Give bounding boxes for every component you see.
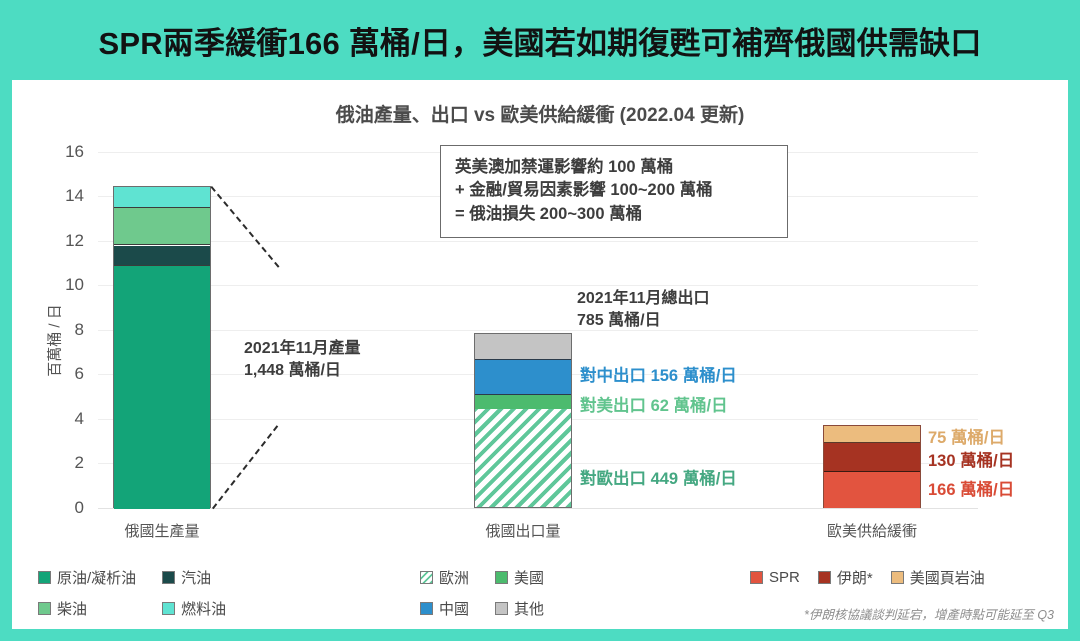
legend-swatch-diesel bbox=[38, 602, 51, 615]
legend-item-crude-condensate[interactable]: 原油/凝析油 bbox=[38, 567, 136, 588]
bar-segment-fuel-oil bbox=[114, 187, 210, 208]
legend-swatch-europe bbox=[420, 571, 433, 584]
legend-item-diesel[interactable]: 柴油 bbox=[38, 598, 136, 619]
ytick-14: 14 bbox=[44, 186, 84, 206]
legend-label-europe: 歐洲 bbox=[439, 567, 469, 588]
legend-label-spr: SPR bbox=[769, 569, 800, 586]
bar-segment-spr bbox=[824, 472, 920, 508]
annotation-shale: 75 萬桶/日 bbox=[928, 424, 1005, 448]
impact-line-3: = 俄油損失 200~300 萬桶 bbox=[455, 203, 775, 226]
legend-label-fuel-oil: 燃料油 bbox=[181, 598, 226, 619]
bar-supply-buffer bbox=[823, 425, 921, 508]
slide-root: SPR兩季緩衝166 萬桶/日，美國若如期復甦可補齊俄國供需缺口 俄油產量、出口… bbox=[0, 0, 1080, 641]
bar-segment-gasoline bbox=[114, 246, 210, 266]
legend-swatch-crude-condensate bbox=[38, 571, 51, 584]
bar-segment-europe bbox=[475, 409, 571, 507]
legend-label-diesel: 柴油 bbox=[57, 598, 87, 619]
annotation-spr: 166 萬桶/日 bbox=[928, 476, 1014, 500]
xcat-supply-buffer: 歐美供給緩衝 bbox=[827, 520, 917, 541]
axis-baseline bbox=[98, 508, 978, 509]
bar-segment-crude-condensate bbox=[114, 266, 210, 510]
impact-textbox: 英美澳加禁運影響約 100 萬桶 + 金融/貿易因素影響 100~200 萬桶 … bbox=[440, 145, 788, 238]
legend-exports: 歐洲 美國 中國 其他 bbox=[420, 567, 544, 619]
callout-production-line1: 2021年11月產量 bbox=[244, 338, 361, 360]
callout-leader-bottom bbox=[212, 425, 278, 509]
annotation-iran: 130 萬桶/日 bbox=[928, 447, 1014, 471]
xcat-exports: 俄國出口量 bbox=[485, 520, 560, 541]
legend-label-china: 中國 bbox=[439, 598, 469, 619]
legend-swatch-other bbox=[495, 602, 508, 615]
legend-label-gasoline: 汽油 bbox=[181, 567, 211, 588]
legend-swatch-iran bbox=[818, 571, 831, 584]
annotation-usa-export: 對美出口 62 萬桶/日 bbox=[580, 392, 728, 416]
callout-production: 2021年11月產量 1,448 萬桶/日 bbox=[244, 338, 361, 383]
y-axis-label: 百萬桶 / 日 bbox=[44, 271, 65, 411]
legend-item-fuel-oil[interactable]: 燃料油 bbox=[162, 598, 226, 619]
callout-production-line2: 1,448 萬桶/日 bbox=[244, 360, 361, 382]
bar-production bbox=[113, 186, 211, 508]
callout-leader-top bbox=[210, 186, 279, 268]
ytick-16: 16 bbox=[44, 142, 84, 162]
annotation-europe-export: 對歐出口 449 萬桶/日 bbox=[580, 465, 737, 489]
legend-item-china[interactable]: 中國 bbox=[420, 598, 469, 619]
ytick-4: 4 bbox=[44, 409, 84, 429]
legend-label-iran: 伊朗* bbox=[837, 567, 873, 588]
legend-item-europe[interactable]: 歐洲 bbox=[420, 567, 469, 588]
ytick-0: 0 bbox=[44, 498, 84, 518]
legend-swatch-gasoline bbox=[162, 571, 175, 584]
legend-swatch-china bbox=[420, 602, 433, 615]
legend-swatch-shale bbox=[891, 571, 904, 584]
legend-label-other: 其他 bbox=[514, 598, 544, 619]
xcat-production: 俄國生產量 bbox=[124, 520, 199, 541]
legend-swatch-spr bbox=[750, 571, 763, 584]
annotation-china-export: 對中出口 156 萬桶/日 bbox=[580, 362, 737, 386]
legend-swatch-usa bbox=[495, 571, 508, 584]
legend-item-iran[interactable]: 伊朗* bbox=[818, 567, 873, 588]
legend-item-gasoline[interactable]: 汽油 bbox=[162, 567, 226, 588]
bar-segment-china bbox=[475, 360, 571, 395]
legend-item-shale[interactable]: 美國頁岩油 bbox=[891, 567, 985, 588]
legend-label-usa: 美國 bbox=[514, 567, 544, 588]
legend-supply-buffer: SPR 伊朗* 美國頁岩油 bbox=[750, 567, 985, 588]
impact-line-1: 英美澳加禁運影響約 100 萬桶 bbox=[455, 156, 775, 179]
chart-panel: 俄油產量、出口 vs 歐美供給緩衝 (2022.04 更新) 16 14 12 … bbox=[12, 80, 1068, 629]
legend-swatch-fuel-oil bbox=[162, 602, 175, 615]
legend-production: 原油/凝析油 汽油 柴油 燃料油 bbox=[38, 567, 226, 619]
legend-label-shale: 美國頁岩油 bbox=[910, 567, 985, 588]
page-title: SPR兩季緩衝166 萬桶/日，美國若如期復甦可補齊俄國供需缺口 bbox=[0, 18, 1080, 63]
callout-exports-line1: 2021年11月總出口 bbox=[577, 288, 710, 310]
footnote: *伊朗核協議談判延宕，增產時點可能延至 Q3 bbox=[804, 604, 1054, 623]
impact-line-2: + 金融/貿易因素影響 100~200 萬桶 bbox=[455, 179, 775, 202]
legend-item-usa[interactable]: 美國 bbox=[495, 567, 544, 588]
gridline-12 bbox=[98, 241, 978, 242]
bar-segment-iran bbox=[824, 443, 920, 472]
legend-item-spr[interactable]: SPR bbox=[750, 567, 800, 588]
bar-segment-shale bbox=[824, 426, 920, 443]
legend-item-other[interactable]: 其他 bbox=[495, 598, 544, 619]
gridline-10 bbox=[98, 285, 978, 286]
callout-exports-line2: 785 萬桶/日 bbox=[577, 310, 710, 332]
bar-segment-diesel bbox=[114, 208, 210, 246]
bar-segment-usa bbox=[475, 395, 571, 409]
gridline-8 bbox=[98, 330, 978, 331]
callout-exports: 2021年11月總出口 785 萬桶/日 bbox=[577, 288, 710, 333]
ytick-2: 2 bbox=[44, 453, 84, 473]
legend-label-crude-condensate: 原油/凝析油 bbox=[57, 567, 136, 588]
bar-exports bbox=[474, 333, 572, 508]
bar-segment-other bbox=[475, 334, 571, 360]
ytick-12: 12 bbox=[44, 231, 84, 251]
